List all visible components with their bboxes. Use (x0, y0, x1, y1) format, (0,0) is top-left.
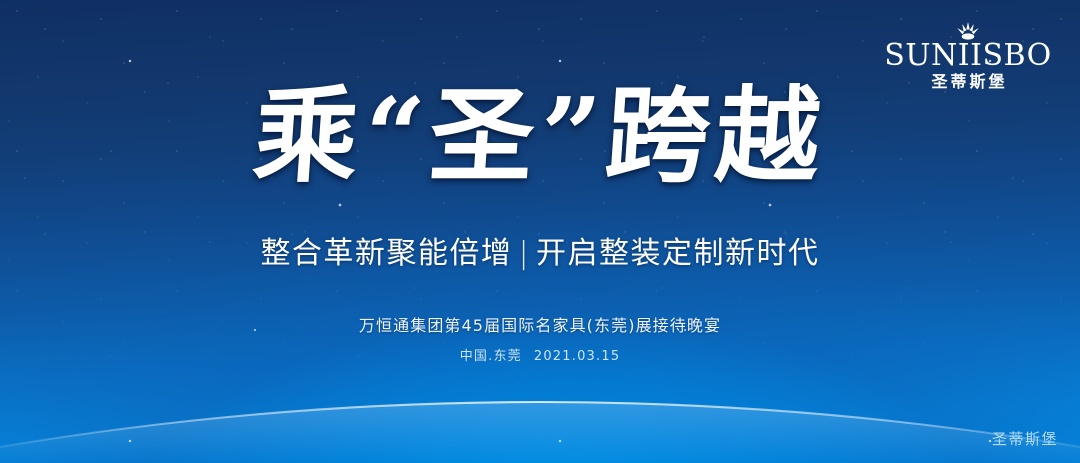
logo-wordmark: SUNIISBO (884, 41, 1052, 71)
location-city: 东莞 (493, 349, 521, 364)
date-location-line: 中国.东莞2021.03.15 (0, 345, 1080, 364)
event-description: 万恒通集团第45届国际名家具(东莞)展接待晚宴 (0, 312, 1080, 336)
subtitle-separator: | (518, 236, 530, 271)
horizon-line (0, 402, 1080, 452)
subtitle: 整合革新聚能倍增|开启整装定制新时代 (0, 228, 1080, 272)
watermark-label: 圣蒂斯堡 (992, 428, 1058, 449)
subtitle-right: 开启整装定制新时代 (536, 236, 820, 271)
location-country: 中国 (460, 349, 488, 364)
horizon-glow (0, 402, 1080, 463)
lotus-sunburst-icon (953, 20, 983, 40)
event-banner: SUNIISBO 圣蒂斯堡 乘“圣”跨越 整合革新聚能倍增|开启整装定制新时代 … (0, 0, 1080, 463)
event-date: 2021.03.15 (534, 349, 620, 364)
page-title: 乘“圣”跨越 (0, 78, 1080, 194)
subtitle-left: 整合革新聚能倍增 (260, 236, 512, 271)
